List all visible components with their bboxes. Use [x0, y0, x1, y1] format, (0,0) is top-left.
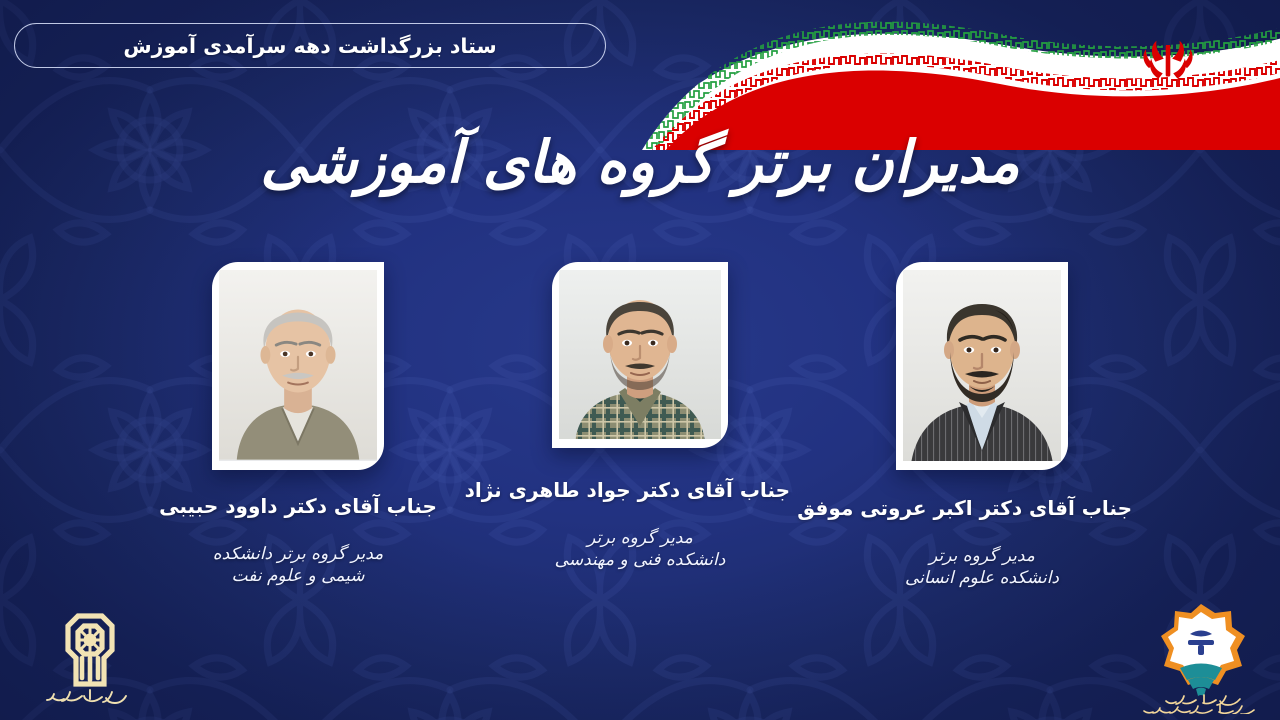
honoree-caption: جناب آقای دکتر جواد طاهری نژاد مدیر گروه… — [490, 478, 790, 572]
honoree-name: جناب آقای دکتر اکبر عروتی موفق — [832, 496, 1132, 520]
honoree-role-line1: مدیر گروه برتر دانشکده — [148, 544, 448, 566]
header-pill-label: ستاد بزرگداشت دهه سرآمدی آموزش — [123, 34, 496, 58]
honoree-role-line1: مدیر گروه برتر — [490, 528, 790, 550]
honoree-caption: جناب آقای دکتر داوود حبیبی مدیر گروه برت… — [148, 494, 448, 588]
bu-ali-sina-university-logo — [20, 600, 160, 712]
honoree-role: مدیر گروه برتر دانشکده علوم انسانی — [832, 546, 1132, 590]
avatar — [903, 270, 1061, 461]
photo-frame — [212, 262, 384, 470]
honoree-caption: جناب آقای دکتر اکبر عروتی موفق مدیر گروه… — [832, 496, 1132, 590]
honoree-name: جناب آقای دکتر داوود حبیبی — [148, 494, 448, 518]
photo-frame — [896, 262, 1068, 470]
avatar — [219, 270, 377, 461]
honoree-role-line1: مدیر گروه برتر — [832, 546, 1132, 568]
honoree-name: جناب آقای دکتر جواد طاهری نژاد — [490, 478, 790, 502]
avatar — [559, 270, 721, 439]
education-excellence-decade-logo — [1136, 598, 1266, 714]
honoree-card-movaffagh: جناب آقای دکتر اکبر عروتی موفق مدیر گروه… — [867, 262, 1097, 590]
honoree-role-line2: دانشکده علوم انسانی — [832, 568, 1132, 590]
honoree-role: مدیر گروه برتر دانشکده شیمی و علوم نفت — [148, 544, 448, 588]
photo-frame — [552, 262, 728, 448]
honoree-role-line2: شیمی و علوم نفت — [148, 566, 448, 588]
header-pill: ستاد بزرگداشت دهه سرآمدی آموزش — [14, 23, 606, 68]
honoree-card-taherinezhad: جناب آقای دکتر جواد طاهری نژاد مدیر گروه… — [525, 262, 755, 572]
honoree-role: مدیر گروه برتر دانشکده فنی و مهندسی — [490, 528, 790, 572]
honoree-card-habibi: جناب آقای دکتر داوود حبیبی مدیر گروه برت… — [183, 262, 413, 588]
honoree-role-line2: دانشکده فنی و مهندسی — [490, 550, 790, 572]
page-title: مدیران برتر گروه های آموزشی — [0, 128, 1280, 196]
honoree-list: جناب آقای دکتر داوود حبیبی مدیر گروه برت… — [0, 262, 1280, 602]
poster-root: ستاد بزرگداشت دهه سرآمدی آموزش مدیران بر… — [0, 0, 1280, 720]
